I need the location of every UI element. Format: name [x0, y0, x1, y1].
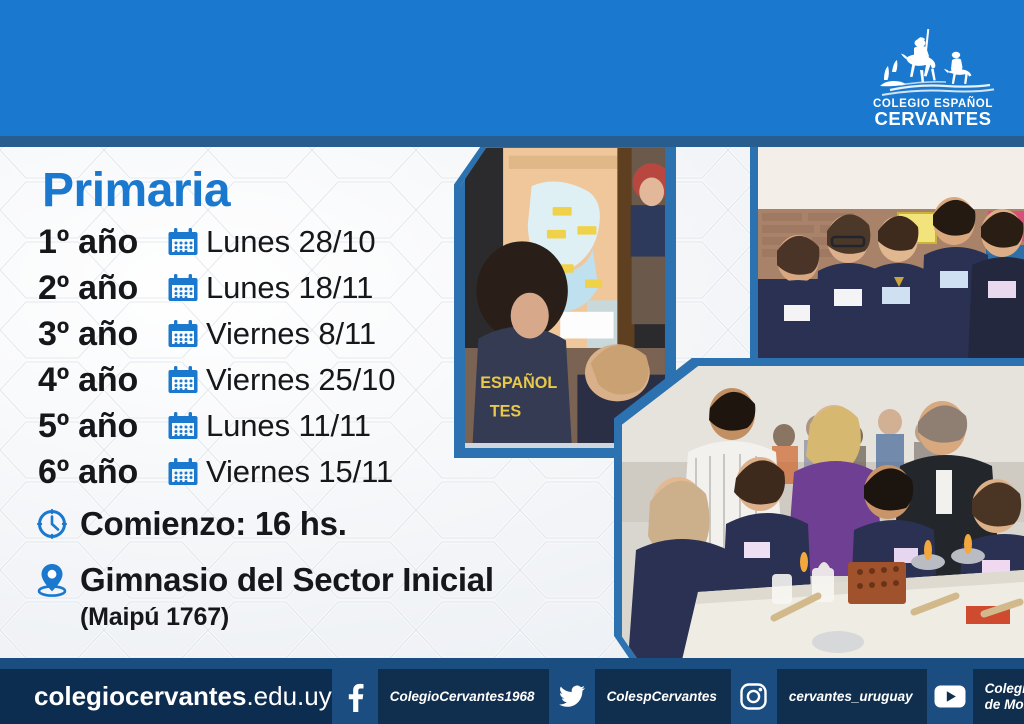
grade-row: 6º año Viernes 15/11 — [38, 449, 468, 495]
photo-students-group-smiling — [758, 147, 1024, 361]
website-url-bold: colegiocervantes — [34, 681, 246, 711]
grade-label: 1º año — [38, 223, 168, 262]
social-facebook[interactable]: ColegioCervantes1968 — [332, 669, 549, 724]
start-time-row: Comienzo: 16 hs. — [36, 505, 616, 543]
social-youtube[interactable]: Colegio Cervantesde Montevideo — [927, 669, 1024, 724]
photo-science-experiment-table — [622, 366, 1024, 660]
venue-text: Gimnasio del Sector Inicial — [80, 561, 494, 599]
section-title-primaria: Primaria — [42, 163, 230, 218]
don-quixote-sancho-silhouette-icon — [870, 28, 996, 100]
svg-text:TES: TES — [490, 403, 522, 421]
grade-label: 4º año — [38, 361, 168, 400]
grade-schedule-list: 1º año Lunes 28/10 2º año Lunes 18/11 3º… — [38, 219, 468, 495]
school-logo: COLEGIO ESPAÑOL CERVANTES — [870, 28, 996, 130]
grade-label: 3º año — [38, 315, 168, 354]
logo-line-2: CERVANTES — [870, 108, 996, 130]
calendar-icon — [168, 227, 206, 257]
social-twitter[interactable]: ColespCervantes — [549, 669, 731, 724]
instagram-icon[interactable] — [731, 669, 777, 724]
calendar-icon — [168, 273, 206, 303]
facebook-handle[interactable]: ColegioCervantes1968 — [378, 669, 549, 724]
grade-date: Lunes 18/11 — [206, 270, 373, 306]
grade-label: 2º año — [38, 269, 168, 308]
clock-icon — [36, 508, 80, 540]
start-time-text: Comienzo: 16 hs. — [80, 505, 347, 543]
grade-row: 4º año Viernes 25/10 — [38, 357, 468, 403]
grade-date: Lunes 28/10 — [206, 224, 376, 260]
grade-row: 1º año Lunes 28/10 — [38, 219, 468, 265]
calendar-icon — [168, 365, 206, 395]
twitter-handle[interactable]: ColespCervantes — [595, 669, 731, 724]
calendar-icon — [168, 411, 206, 441]
venue-row: Gimnasio del Sector Inicial — [36, 561, 616, 599]
facebook-icon[interactable] — [332, 669, 378, 724]
poster-root: Muestra / Clase abierta Proyectos curric… — [0, 0, 1024, 724]
grade-date: Viernes 15/11 — [206, 454, 393, 490]
grade-row: 2º año Lunes 18/11 — [38, 265, 468, 311]
social-instagram[interactable]: cervantes_uruguay — [731, 669, 927, 724]
location-pin-icon — [36, 563, 80, 597]
website-url-suffix: .edu.uy — [246, 681, 331, 711]
grade-label: 5º año — [38, 407, 168, 446]
youtube-icon[interactable] — [927, 669, 973, 724]
calendar-icon — [168, 457, 206, 487]
website-url[interactable]: colegiocervantes.edu.uy — [34, 681, 332, 712]
grade-row: 5º año Lunes 11/11 — [38, 403, 468, 449]
header-accent-strip — [0, 136, 1024, 147]
footer-bar: colegiocervantes.edu.uy ColegioCervantes… — [0, 669, 1024, 724]
instagram-handle[interactable]: cervantes_uruguay — [777, 669, 927, 724]
youtube-handle[interactable]: Colegio Cervantesde Montevideo — [973, 669, 1024, 724]
twitter-icon[interactable] — [549, 669, 595, 724]
grade-date: Viernes 8/11 — [206, 316, 376, 352]
event-info: Comienzo: 16 hs. Gimnasio del Sector Ini… — [36, 505, 616, 632]
grade-date: Lunes 11/11 — [206, 408, 371, 444]
svg-text:ESPAÑOL: ESPAÑOL — [480, 372, 557, 392]
venue-address: (Maipú 1767) — [80, 603, 616, 632]
footer-accent-strip — [0, 658, 1024, 669]
grade-date: Viernes 25/10 — [206, 362, 395, 398]
grade-row: 3º año Viernes 8/11 — [38, 311, 468, 357]
grade-label: 6º año — [38, 453, 168, 492]
calendar-icon — [168, 319, 206, 349]
